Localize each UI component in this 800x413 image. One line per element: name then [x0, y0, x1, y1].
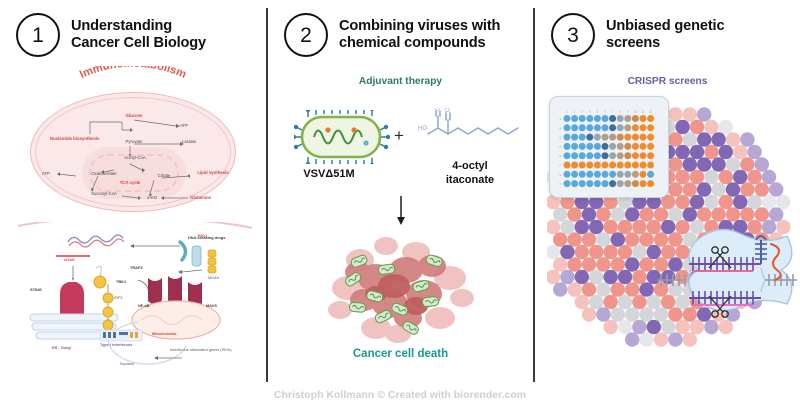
label-cgas: cGAS [64, 258, 75, 262]
svg-text:6: 6 [604, 111, 606, 114]
cancer-cell-death-caption: Cancer cell death [268, 348, 533, 360]
panel-2: 2 Combining viruses with chemical compou… [268, 0, 533, 378]
adjuvant-therapy-caption: Adjuvant therapy [268, 76, 533, 87]
svg-text:Immunometabolism: Immunometabolism [78, 66, 188, 81]
biorender-research-figure: 1 Understanding Cancer Cell Biology Immu… [0, 0, 800, 413]
panel-2-title-line1: Combining viruses with [339, 18, 500, 35]
tumor-graphic [320, 232, 482, 344]
dying-tumor-illustration [320, 232, 482, 344]
svg-text:A: A [560, 118, 562, 121]
ho-label: HO [418, 126, 427, 132]
svg-text:D: D [560, 146, 562, 149]
label-rig-i: RIG-I [198, 234, 207, 238]
virus-name-label: VSVΔ51M [274, 168, 384, 180]
panel-1: 1 Understanding Cancer Cell Biology Immu… [0, 0, 266, 378]
svg-text:4: 4 [589, 111, 591, 114]
svg-text:1: 1 [566, 111, 568, 114]
panel-3: 3 Unbiased genetic screens CRISPR screen… [535, 0, 800, 378]
svg-text:10: 10 [634, 111, 637, 114]
svg-text:9: 9 [627, 111, 629, 114]
plate-wells-grid: 123456789101112ABCDEFGH [557, 109, 661, 191]
compound-line2: itaconate [414, 174, 526, 188]
attribution-credit: Christoph Kollmann © Created with bioren… [0, 389, 800, 401]
virus-graphic [294, 110, 390, 164]
plate-graphic: 123456789101112ABCDEFGH [557, 109, 661, 191]
metabolism-arrows [30, 92, 236, 212]
svg-text:8: 8 [620, 111, 622, 114]
o-label-2: O [435, 108, 440, 113]
panel-2-number: 2 [284, 13, 328, 57]
panel-3-number: 3 [551, 13, 595, 57]
immunometabolism-cell-diagram: Glucose ATP Pyruvate Lactate Nucleotide … [30, 92, 236, 212]
label-nfkb: NF-κB [138, 304, 149, 308]
panel-1-title-line1: Understanding [71, 18, 206, 35]
label-er-golgi: ER - Golgi [52, 346, 71, 350]
vsv-virus-illustration [294, 110, 390, 164]
svg-text:E: E [560, 155, 562, 158]
panel-2-title: Combining viruses with chemical compound… [339, 18, 500, 52]
panel-2-header: 2 Combining viruses with chemical compou… [268, 0, 533, 57]
panel-3-header: 3 Unbiased genetic screens [535, 0, 800, 57]
crispr-screens-caption: CRISPR screens [535, 76, 800, 87]
svg-text:2: 2 [574, 111, 576, 114]
panel-1-title: Understanding Cancer Cell Biology [71, 18, 206, 52]
panel-1-title-line2: Cancer Cell Biology [71, 35, 206, 52]
label-irf3: IRF3 [114, 296, 122, 300]
down-arrow-icon [396, 196, 405, 226]
label-nucleus: Nucleus [120, 362, 134, 366]
svg-text:F: F [560, 165, 562, 168]
panel-3-title: Unbiased genetic screens [606, 18, 724, 52]
chemical-graphic: HO O O [416, 108, 526, 158]
svg-text:12: 12 [649, 111, 652, 114]
compound-name-label: 4-octyl itaconate [414, 160, 526, 187]
cgas-sting-pathway-diagram: DNA breaking drugs cGAS STING TBK1 IRF3 … [12, 222, 256, 372]
panel-3-title-line1: Unbiased genetic [606, 18, 724, 35]
4-octyl-itaconate-structure: HO O O [416, 108, 526, 158]
svg-text:B: B [560, 127, 562, 130]
label-type-i-interferons: Type I interferons [100, 343, 132, 347]
label-isgs: Interferone stimulated genes (ISGs) [170, 348, 228, 353]
plus-sign: + [394, 126, 404, 146]
label-tbk1: TBK1 [116, 280, 126, 284]
panel-3-title-line2: screens [606, 35, 724, 52]
immunometabolism-caption: Immunometabolism [0, 66, 266, 92]
svg-text:5: 5 [597, 111, 599, 114]
panel-1-number: 1 [16, 13, 60, 57]
o-label-1: O [445, 108, 450, 114]
svg-text:C: C [560, 137, 562, 140]
compound-line1: 4-octyl [414, 160, 526, 174]
label-mda5: MDA5 [208, 276, 219, 280]
96-well-plate[interactable]: 123456789101112ABCDEFGH [549, 96, 669, 198]
cas9-graphic [653, 216, 799, 320]
svg-text:G: G [560, 174, 562, 177]
panel-2-title-line2: chemical compounds [339, 35, 500, 52]
panel-1-header: 1 Understanding Cancer Cell Biology [0, 0, 266, 57]
svg-text:3: 3 [582, 111, 584, 114]
label-mavs: MAVS [206, 304, 217, 308]
svg-text:H: H [560, 183, 562, 186]
label-mitochondria: Mitochondria [152, 332, 176, 336]
cas9-crispr-complex [653, 216, 799, 320]
label-traf3: TRAF3 [130, 266, 143, 270]
svg-text:11: 11 [642, 111, 645, 114]
svg-text:7: 7 [612, 111, 614, 114]
label-sting: STING [30, 288, 42, 292]
